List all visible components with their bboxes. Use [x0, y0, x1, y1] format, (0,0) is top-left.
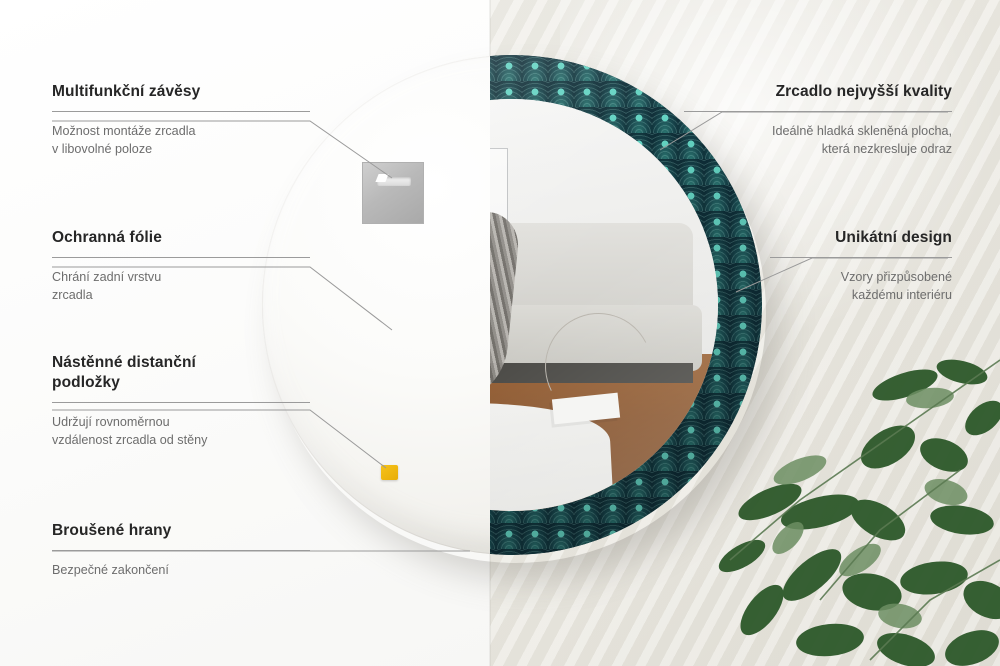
callout-description: Vzory přizpůsobené každému interiéru	[770, 269, 952, 305]
callout-rule	[52, 402, 310, 403]
desc-line: každému interiéru	[770, 287, 952, 305]
infographic-canvas: Multifunkční závěsy Možnost montáže zrca…	[0, 0, 1000, 666]
callout-title: Nástěnné distanční podložky	[52, 353, 310, 393]
desc-line: Ideálně hladká skleněná plocha,	[684, 123, 952, 141]
callout-rule	[684, 111, 952, 112]
desc-line: která nezkresluje odraz	[684, 141, 952, 159]
callout-nastenne-distancni-podlozky: Nástěnné distanční podložky Udržují rovn…	[52, 353, 310, 449]
callout-rule	[52, 550, 310, 551]
callout-rule	[52, 257, 310, 258]
title-line: Nástěnné distanční	[52, 353, 310, 373]
desc-line: v libovolné poloze	[52, 141, 310, 159]
desc-line: Vzory přizpůsobené	[770, 269, 952, 287]
callout-description: Udržují rovnoměrnou vzdálenost zrcadla o…	[52, 414, 310, 450]
callout-description: Ideálně hladká skleněná plocha, která ne…	[684, 123, 952, 159]
callout-title: Broušené hrany	[52, 521, 310, 541]
callout-description: Možnost montáže zrcadla v libovolné polo…	[52, 123, 310, 159]
callout-rule	[770, 257, 952, 258]
desc-line: Možnost montáže zrcadla	[52, 123, 310, 141]
hanger-bracket	[362, 162, 424, 224]
callout-title: Zrcadlo nejvyšší kvality	[684, 82, 952, 102]
title-line: podložky	[52, 373, 310, 393]
callout-description: Bezpečné zakončení	[52, 562, 310, 580]
callout-title: Ochranná fólie	[52, 228, 310, 248]
callout-zrcadlo-nejvyssi-kvality: Zrcadlo nejvyšší kvality Ideálně hladká …	[684, 82, 952, 159]
desc-line: vzdálenost zrcadla od stěny	[52, 432, 310, 450]
callout-title: Unikátní design	[770, 228, 952, 248]
desc-line: Udržují rovnoměrnou	[52, 414, 310, 432]
callout-title: Multifunkční závěsy	[52, 82, 310, 102]
callout-unikatni-design: Unikátní design Vzory přizpůsobené každé…	[770, 228, 952, 305]
callout-rule	[52, 111, 310, 112]
wall-spacer-pad	[381, 465, 398, 480]
callout-multifunkcni-zavesy: Multifunkční závěsy Možnost montáže zrca…	[52, 82, 310, 159]
desc-line: Bezpečné zakončení	[52, 562, 310, 580]
desc-line: zrcadla	[52, 287, 310, 305]
callout-description: Chrání zadní vrstvu zrcadla	[52, 269, 310, 305]
desc-line: Chrání zadní vrstvu	[52, 269, 310, 287]
callout-brousene-hrany: Broušené hrany Bezpečné zakončení	[52, 521, 310, 580]
callout-ochranna-folie: Ochranná fólie Chrání zadní vrstvu zrcad…	[52, 228, 310, 305]
